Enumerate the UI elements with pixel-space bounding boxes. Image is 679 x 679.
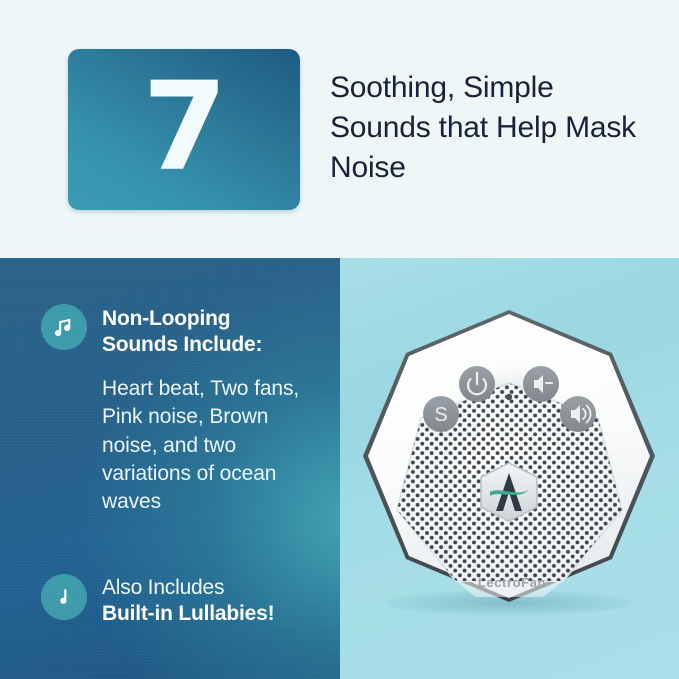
svg-text:S: S: [434, 404, 447, 426]
feature-non-looping-sounds: Non-Looping Sounds Include:: [41, 304, 262, 358]
feature-heading: Non-Looping Sounds Include:: [102, 304, 262, 358]
double-music-note-icon: [41, 304, 87, 350]
product-feature-graphic: 7 Soothing, Simple Sounds that Help Mask…: [0, 0, 679, 679]
lullabies-text: Also Includes Built-in Lullabies!: [102, 574, 274, 627]
single-music-note-icon: [41, 574, 87, 620]
features-panel: Non-Looping Sounds Include: Heart beat, …: [0, 258, 340, 679]
count-badge-number: 7: [143, 66, 226, 188]
product-brand-label: ˙LectroFan: [340, 575, 679, 590]
lullabies-line-1: Also Includes: [102, 575, 274, 601]
feature-body-text: Heart beat, Two fans, Pink noise, Brown …: [102, 375, 302, 517]
header-band: 7 Soothing, Simple Sounds that Help Mask…: [0, 0, 679, 258]
lectrofan-alpha-device: S: [340, 258, 679, 679]
feature-built-in-lullabies: Also Includes Built-in Lullabies!: [41, 574, 274, 627]
lullabies-line-2: Built-in Lullabies!: [102, 601, 274, 627]
page-title: Soothing, Simple Sounds that Help Mask N…: [330, 68, 660, 188]
product-photo-panel: S: [340, 258, 679, 679]
count-badge: 7: [68, 49, 300, 210]
